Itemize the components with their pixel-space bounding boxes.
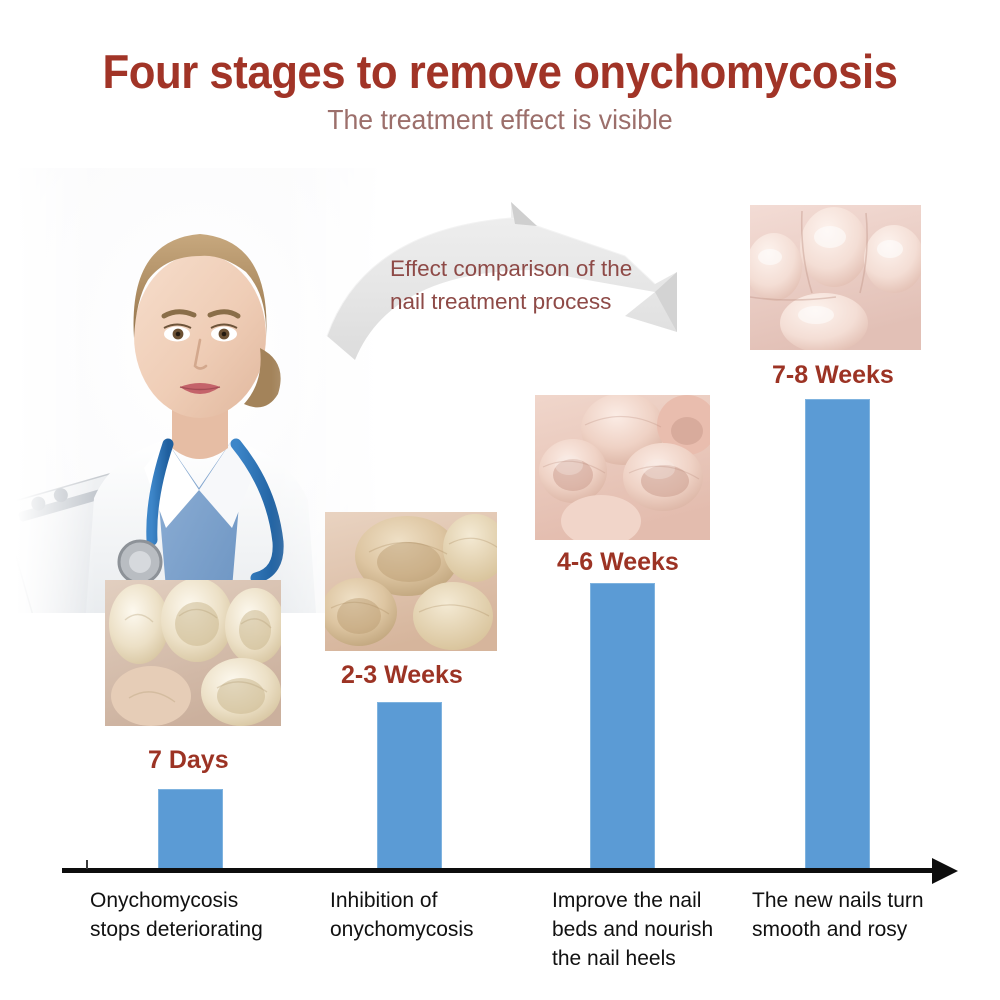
- bar-stage-3: [590, 583, 655, 871]
- stage-caption-3: 4-6 Weeks: [557, 548, 679, 577]
- callout-line-2: nail treatment process: [390, 285, 700, 318]
- desc-2-line-1: Inhibition of: [330, 886, 474, 915]
- stage-description-1: Onychomycosis stops deteriorating: [90, 886, 263, 944]
- desc-2-line-2: onychomycosis: [330, 915, 474, 944]
- stage-description-2: Inhibition of onychomycosis: [330, 886, 474, 944]
- stage-caption-2: 2-3 Weeks: [341, 661, 463, 690]
- page-title: Four stages to remove onychomycosis: [35, 44, 965, 99]
- desc-3-line-2: beds and nourish: [552, 915, 713, 944]
- stage-description-4: The new nails turn smooth and rosy: [752, 886, 924, 944]
- stage-caption-4: 7-8 Weeks: [772, 361, 894, 390]
- nail-photo-stage-2: [325, 512, 497, 651]
- desc-1-line-1: Onychomycosis: [90, 886, 263, 915]
- infographic-canvas: Four stages to remove onychomycosis The …: [0, 0, 1000, 1000]
- nail-photo-stage-4: [750, 205, 921, 350]
- stage-description-3: Improve the nail beds and nourish the na…: [552, 886, 713, 973]
- stage-caption-1: 7 Days: [148, 746, 229, 775]
- bar-stage-1: [158, 789, 223, 871]
- axis-tick-0: [86, 860, 88, 869]
- desc-1-line-2: stops deteriorating: [90, 915, 263, 944]
- desc-3-line-3: the nail heels: [552, 944, 713, 973]
- nail-photo-stage-1: [105, 580, 281, 726]
- x-axis-arrowhead: [932, 858, 958, 884]
- bar-stage-2: [377, 702, 442, 871]
- nail-photo-stage-3: [535, 395, 710, 540]
- callout-line-1: Effect comparison of the: [390, 252, 700, 285]
- callout-text: Effect comparison of the nail treatment …: [390, 252, 700, 318]
- bar-stage-4: [805, 399, 870, 871]
- desc-4-line-1: The new nails turn: [752, 886, 924, 915]
- x-axis-line: [62, 868, 942, 873]
- page-subtitle: The treatment effect is visible: [25, 104, 975, 136]
- desc-4-line-2: smooth and rosy: [752, 915, 924, 944]
- desc-3-line-1: Improve the nail: [552, 886, 713, 915]
